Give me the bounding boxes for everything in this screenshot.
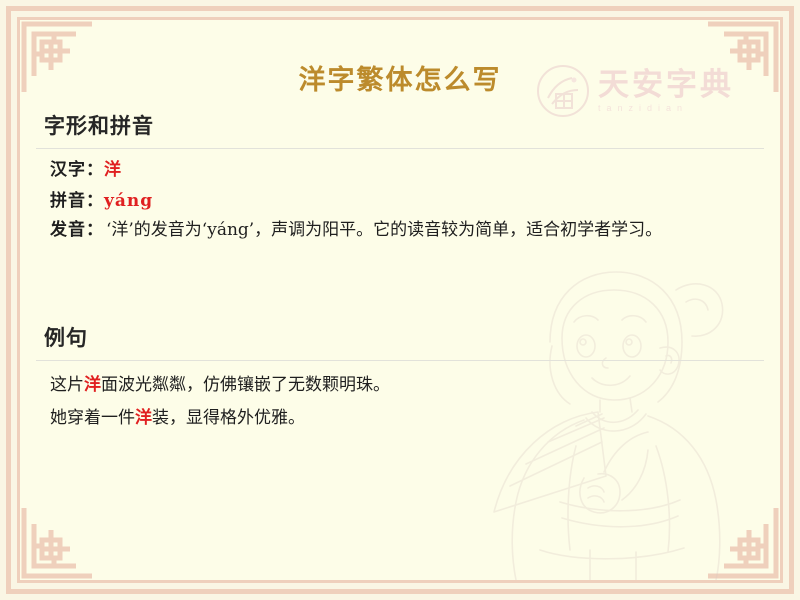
example-highlight-char: 洋: [135, 408, 152, 428]
example-highlight-char: 洋: [84, 375, 101, 395]
example-text-before: 这片: [50, 375, 84, 395]
field-row-hanzi: 汉字：洋: [50, 157, 764, 185]
field-value-pinyin: yáng: [104, 191, 153, 211]
list-item: 这片洋面波光粼粼，仿佛镶嵌了无数颗明珠。: [50, 369, 764, 402]
field-label-pronunciation: 发音：: [50, 220, 104, 240]
field-list: 汉字：洋 拼音：yáng 发音：‘洋’的发音为‘yáng’，声调为阳平。它的读音…: [36, 157, 764, 244]
section-heading: 例句: [44, 322, 764, 352]
field-row-pronunciation: 发音：‘洋’的发音为‘yáng’，声调为阳平。它的读音较为简单，适合初学者学习。: [50, 218, 764, 244]
field-row-pinyin: 拼音：yáng: [50, 188, 764, 216]
field-value-hanzi: 洋: [104, 160, 122, 180]
example-text-before: 她穿着一件: [50, 408, 135, 428]
section-divider: [36, 360, 764, 361]
field-label-hanzi: 汉字：: [50, 160, 104, 180]
example-text-after: 面波光粼粼，仿佛镶嵌了无数颗明珠。: [101, 375, 390, 395]
content-area: 洋字繁体怎么写 字形和拼音 汉字：洋 拼音：yáng 发音：‘洋’的发音为‘yá…: [0, 0, 800, 600]
field-label-pinyin: 拼音：: [50, 191, 104, 211]
section-heading: 字形和拼音: [44, 110, 764, 140]
page-title: 洋字繁体怎么写: [0, 58, 800, 97]
example-list: 这片洋面波光粼粼，仿佛镶嵌了无数颗明珠。 她穿着一件洋装，显得格外优雅。: [36, 369, 764, 435]
section-glyph-and-pinyin: 字形和拼音 汉字：洋 拼音：yáng 发音：‘洋’的发音为‘yáng’，声调为阳…: [36, 110, 764, 244]
page-root: 天安字典 tanzidian 洋字繁体怎么写 字形和拼音 汉字：洋 拼音：yán…: [0, 0, 800, 600]
example-text-after: 装，显得格外优雅。: [152, 408, 305, 428]
list-item: 她穿着一件洋装，显得格外优雅。: [50, 402, 764, 435]
section-example-sentences: 例句 这片洋面波光粼粼，仿佛镶嵌了无数颗明珠。 她穿着一件洋装，显得格外优雅。: [36, 322, 764, 435]
field-value-pronunciation: ‘洋’的发音为‘yáng’，声调为阳平。它的读音较为简单，适合初学者学习。: [106, 220, 662, 240]
section-divider: [36, 148, 764, 149]
